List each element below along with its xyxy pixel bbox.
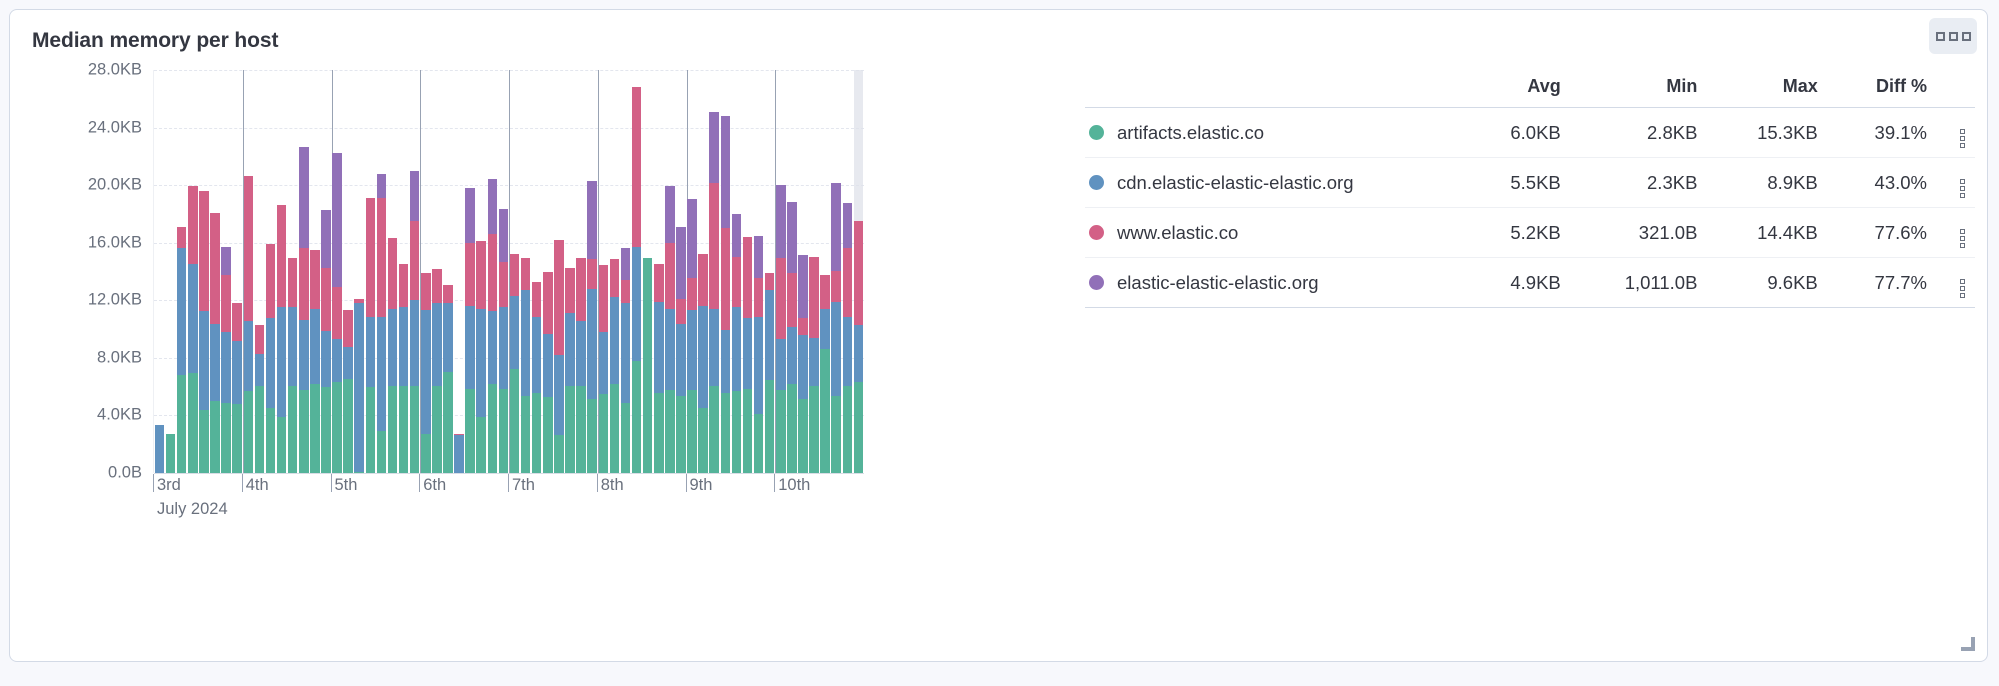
bar-segment[interactable] <box>543 397 553 473</box>
bar-stack[interactable] <box>787 202 797 473</box>
bar-segment[interactable] <box>820 349 830 473</box>
bar-segment[interactable] <box>199 311 209 409</box>
bar-segment[interactable] <box>177 375 187 473</box>
bar-segment[interactable] <box>698 408 708 473</box>
bar-segment[interactable] <box>510 369 520 473</box>
bar-stack[interactable] <box>820 275 830 473</box>
panel-context-menu-button[interactable] <box>1929 18 1977 54</box>
bar-stack[interactable] <box>543 272 553 473</box>
bar-segment[interactable] <box>232 404 242 473</box>
bar-segment[interactable] <box>721 330 731 393</box>
legend-cell-diff: 39.1% <box>1832 108 1941 158</box>
x-axis-tick-line <box>597 474 598 492</box>
bar-stack[interactable] <box>554 240 564 473</box>
bar-segment[interactable] <box>776 390 786 473</box>
bar-segment[interactable] <box>177 227 187 248</box>
bar-segment[interactable] <box>532 282 542 317</box>
legend-header-min[interactable]: Min <box>1575 72 1712 108</box>
bar-stack[interactable] <box>721 116 731 473</box>
bar-segment[interactable] <box>521 290 531 395</box>
bar-segment[interactable] <box>377 198 387 317</box>
bar-segment[interactable] <box>554 435 564 473</box>
bar-stack[interactable] <box>388 238 398 473</box>
legend-cell-min: 2.3KB <box>1575 158 1712 208</box>
bar-stack[interactable] <box>476 241 486 473</box>
bar-segment[interactable] <box>809 386 819 473</box>
bar-stack[interactable] <box>199 190 209 473</box>
bar-segment[interactable] <box>421 310 431 434</box>
bar-segment[interactable] <box>831 183 841 270</box>
bar-segment[interactable] <box>798 318 808 335</box>
bar-segment[interactable] <box>654 302 664 393</box>
bar-stack[interactable] <box>421 273 431 473</box>
bar-stack[interactable] <box>632 86 642 473</box>
bar-segment[interactable] <box>410 171 420 222</box>
bar-segment[interactable] <box>499 262 509 307</box>
bar-segment[interactable] <box>199 410 209 473</box>
bar-stack[interactable] <box>654 264 664 473</box>
bar-segment[interactable] <box>410 386 420 473</box>
bar-segment[interactable] <box>831 271 841 302</box>
bar-segment[interactable] <box>288 386 298 473</box>
bar-segment[interactable] <box>843 248 853 317</box>
bar-segment[interactable] <box>599 332 609 394</box>
bar-segment[interactable] <box>743 389 753 473</box>
bar-segment[interactable] <box>221 275 231 333</box>
bar-segment[interactable] <box>632 247 642 361</box>
bar-segment[interactable] <box>610 384 620 473</box>
bar-segment[interactable] <box>632 87 642 247</box>
bar-stack[interactable] <box>843 203 853 473</box>
bar-segment[interactable] <box>244 321 254 391</box>
bar-segment[interactable] <box>454 435 464 473</box>
bar-stack[interactable] <box>366 198 376 473</box>
bar-segment[interactable] <box>709 309 719 386</box>
legend-series-cell[interactable]: artifacts.elastic.co <box>1085 108 1468 158</box>
bar-stack[interactable] <box>831 183 841 473</box>
bar-stack[interactable] <box>698 254 708 473</box>
bar-segment[interactable] <box>244 391 254 473</box>
bar-segment[interactable] <box>244 176 254 321</box>
bar-stack[interactable] <box>399 264 409 473</box>
bar-stack[interactable] <box>432 269 442 473</box>
bar-stack[interactable] <box>576 258 586 473</box>
bar-segment[interactable] <box>188 264 198 374</box>
bar-segment[interactable] <box>843 203 853 248</box>
bar-stack[interactable] <box>332 153 342 473</box>
bar-segment[interactable] <box>820 309 830 350</box>
bar-stack[interactable] <box>599 265 609 473</box>
y-axis-tick-label: 8.0KB <box>97 348 142 367</box>
bar-segment[interactable] <box>443 285 453 303</box>
bar-segment[interactable] <box>332 287 342 339</box>
bar-segment[interactable] <box>687 278 697 310</box>
x-axis-tick-line <box>774 474 775 492</box>
bar-segment[interactable] <box>199 191 209 312</box>
bar-segment[interactable] <box>465 243 475 306</box>
bar-segment[interactable] <box>332 382 342 473</box>
bar-segment[interactable] <box>709 112 719 184</box>
bar-segment[interactable] <box>366 317 376 387</box>
bar-segment[interactable] <box>488 234 498 311</box>
bar-segment[interactable] <box>732 214 742 256</box>
legend-row-menu-button[interactable] <box>1941 208 1975 258</box>
bar-segment[interactable] <box>388 309 398 386</box>
bar-segment[interactable] <box>643 258 653 473</box>
bar-segment[interactable] <box>732 307 742 391</box>
bar-segment[interactable] <box>388 238 398 308</box>
bar-stack[interactable] <box>443 285 453 473</box>
bar-stack[interactable] <box>610 259 620 473</box>
bar-segment[interactable] <box>299 390 309 473</box>
bar-stack[interactable] <box>532 282 542 473</box>
bar-segment[interactable] <box>399 264 409 308</box>
bar-segment[interactable] <box>809 338 819 386</box>
legend-row-menu-button[interactable] <box>1941 108 1975 158</box>
bar-stack[interactable] <box>709 112 719 473</box>
bar-segment[interactable] <box>687 199 697 278</box>
bar-segment[interactable] <box>432 386 442 473</box>
bar-stack[interactable] <box>665 186 675 473</box>
bar-segment[interactable] <box>210 213 220 324</box>
bar-stack[interactable] <box>166 434 176 473</box>
bar-stack[interactable] <box>155 425 165 473</box>
bar-segment[interactable] <box>288 258 298 307</box>
bar-segment[interactable] <box>166 434 176 473</box>
bar-segment[interactable] <box>343 379 353 473</box>
legend-row-menu-button[interactable] <box>1941 158 1975 208</box>
bar-segment[interactable] <box>476 241 486 308</box>
bar-segment[interactable] <box>399 386 409 473</box>
bar-segment[interactable] <box>587 181 597 260</box>
plot-area[interactable] <box>153 70 864 473</box>
bar-segment[interactable] <box>421 273 431 310</box>
bar-segment[interactable] <box>754 236 764 278</box>
bar-stack[interactable] <box>676 227 686 473</box>
bar-segment[interactable] <box>321 387 331 473</box>
bar-stack[interactable] <box>354 299 364 473</box>
bar-segment[interactable] <box>432 303 442 386</box>
bar-segment[interactable] <box>743 318 753 388</box>
bar-segment[interactable] <box>809 257 819 339</box>
table-row[interactable]: cdn.elastic-elastic-elastic.org5.5KB2.3K… <box>1085 158 1975 208</box>
bar-stack[interactable] <box>343 310 353 473</box>
bar-stack[interactable] <box>255 325 265 473</box>
bar-segment[interactable] <box>410 221 420 300</box>
bar-segment[interactable] <box>188 186 198 263</box>
bar-stack[interactable] <box>732 214 742 473</box>
bar-segment[interactable] <box>654 264 664 302</box>
bar-stack[interactable] <box>321 210 331 473</box>
bar-segment[interactable] <box>721 228 731 329</box>
bar-segment[interactable] <box>787 273 797 326</box>
panel-resize-handle[interactable] <box>1961 637 1975 651</box>
bar-stack[interactable] <box>210 213 220 473</box>
bar-segment[interactable] <box>709 183 719 308</box>
bar-segment[interactable] <box>732 391 742 473</box>
bar-segment[interactable] <box>443 372 453 473</box>
bar-segment[interactable] <box>221 403 231 473</box>
bar-segment[interactable] <box>321 210 331 268</box>
bar-segment[interactable] <box>232 303 242 341</box>
bar-segment[interactable] <box>576 321 586 386</box>
bar-segment[interactable] <box>476 309 486 417</box>
bar-segment[interactable] <box>831 302 841 396</box>
bar-stack[interactable] <box>565 268 575 473</box>
bar-segment[interactable] <box>499 389 509 473</box>
bar-stack[interactable] <box>221 247 231 473</box>
bar-stack[interactable] <box>765 273 775 473</box>
bar-segment[interactable] <box>332 153 342 288</box>
bar-segment[interactable] <box>765 273 775 290</box>
bar-segment[interactable] <box>377 317 387 431</box>
bar-segment[interactable] <box>255 386 265 473</box>
bar-stack[interactable] <box>310 250 320 473</box>
bar-segment[interactable] <box>343 310 353 347</box>
bar-segment[interactable] <box>599 265 609 332</box>
bar-stack[interactable] <box>687 199 697 473</box>
bar-segment[interactable] <box>854 325 864 381</box>
bar-segment[interactable] <box>854 382 864 473</box>
bar-segment[interactable] <box>510 296 520 369</box>
bar-stack[interactable] <box>488 179 498 473</box>
bar-segment[interactable] <box>432 269 442 303</box>
resize-corner-icon-horizontal <box>1961 647 1975 651</box>
bar-stack[interactable] <box>754 235 764 473</box>
legend-series-cell[interactable]: elastic-elastic-elastic.org <box>1085 258 1468 308</box>
bar-segment[interactable] <box>210 401 220 473</box>
bar-segment[interactable] <box>277 417 287 473</box>
bar-segment[interactable] <box>787 327 797 385</box>
bar-segment[interactable] <box>765 290 775 380</box>
bar-segment[interactable] <box>798 399 808 473</box>
bar-segment[interactable] <box>843 386 853 473</box>
bar-segment[interactable] <box>665 243 675 309</box>
bar-segment[interactable] <box>787 384 797 473</box>
bar-segment[interactable] <box>377 174 387 198</box>
legend-series-cell[interactable]: cdn.elastic-elastic-elastic.org <box>1085 158 1468 208</box>
bar-segment[interactable] <box>610 259 620 297</box>
bar-segment[interactable] <box>321 268 331 331</box>
bar-segment[interactable] <box>421 434 431 473</box>
bar-segment[interactable] <box>377 431 387 473</box>
bar-stack[interactable] <box>244 176 254 473</box>
bar-segment[interactable] <box>232 341 242 404</box>
bar-segment[interactable] <box>632 361 642 473</box>
bar-segment[interactable] <box>776 258 786 340</box>
bar-stack[interactable] <box>299 147 309 473</box>
bar-segment[interactable] <box>599 394 609 473</box>
bar-stack[interactable] <box>587 181 597 473</box>
bar-segment[interactable] <box>698 254 708 306</box>
bar-segment[interactable] <box>565 313 575 386</box>
bar-segment[interactable] <box>665 390 675 473</box>
bar-segment[interactable] <box>521 258 531 290</box>
bar-segment[interactable] <box>521 396 531 473</box>
bar-segment[interactable] <box>277 205 287 308</box>
bar-segment[interactable] <box>465 389 475 473</box>
bar-segment[interactable] <box>820 275 830 309</box>
bar-segment[interactable] <box>621 248 631 280</box>
bar-segment[interactable] <box>754 278 764 317</box>
bar-segment[interactable] <box>554 240 564 355</box>
bar-segment[interactable] <box>532 393 542 473</box>
bar-segment[interactable] <box>299 248 309 320</box>
bar-stack[interactable] <box>465 188 475 473</box>
bar-segment[interactable] <box>299 147 309 248</box>
legend-table: Avg Min Max Diff % artifacts.elastic.co6… <box>1085 72 1975 308</box>
bar-segment[interactable] <box>266 408 276 473</box>
bar-segment[interactable] <box>366 387 376 473</box>
bar-segment[interactable] <box>721 116 731 228</box>
bar-stack[interactable] <box>410 171 420 473</box>
bar-segment[interactable] <box>310 309 320 385</box>
bar-segment[interactable] <box>321 331 331 387</box>
bar-segment[interactable] <box>709 386 719 473</box>
x-axis-tick-label: 6th <box>423 476 446 495</box>
bar-segment[interactable] <box>665 309 675 391</box>
bar-segment[interactable] <box>266 318 276 408</box>
bar-stack[interactable] <box>377 174 387 473</box>
bar-segment[interactable] <box>465 188 475 243</box>
bar-segment[interactable] <box>843 317 853 386</box>
bar-segment[interactable] <box>854 221 864 325</box>
bar-segment[interactable] <box>676 299 686 324</box>
bar-segment[interactable] <box>554 355 564 435</box>
bar-segment[interactable] <box>687 310 697 390</box>
bar-stack[interactable] <box>177 227 187 473</box>
bar-segment[interactable] <box>388 386 398 473</box>
legend-header-diff[interactable]: Diff % <box>1832 72 1941 108</box>
bar-segment[interactable] <box>621 403 631 473</box>
bar-stack[interactable] <box>798 255 808 473</box>
bar-segment[interactable] <box>288 307 298 386</box>
bar-stack[interactable] <box>809 257 819 473</box>
bar-stack[interactable] <box>188 186 198 473</box>
bar-segment[interactable] <box>621 280 631 302</box>
bar-series-container[interactable] <box>154 70 864 473</box>
bar-segment[interactable] <box>255 325 265 353</box>
bar-stack[interactable] <box>854 221 864 473</box>
legend-series-cell[interactable]: www.elastic.co <box>1085 208 1468 258</box>
bar-segment[interactable] <box>221 247 231 275</box>
legend-header-max[interactable]: Max <box>1711 72 1831 108</box>
bar-stack[interactable] <box>288 258 298 473</box>
bar-stack[interactable] <box>454 434 464 473</box>
bar-segment[interactable] <box>721 393 731 473</box>
bar-stack[interactable] <box>266 244 276 473</box>
bar-segment[interactable] <box>366 198 376 317</box>
bar-segment[interactable] <box>488 384 498 473</box>
bar-segment[interactable] <box>798 255 808 318</box>
bar-segment[interactable] <box>499 209 509 262</box>
bar-stack[interactable] <box>776 185 786 473</box>
bar-segment[interactable] <box>476 417 486 473</box>
bar-stack[interactable] <box>510 254 520 473</box>
table-row[interactable]: elastic-elastic-elastic.org4.9KB1,011.0B… <box>1085 258 1975 308</box>
bar-segment[interactable] <box>543 272 553 334</box>
y-axis-tick-label: 20.0KB <box>88 176 142 195</box>
legend-row-menu-button[interactable] <box>1941 258 1975 308</box>
bar-segment[interactable] <box>354 303 364 472</box>
bar-segment[interactable] <box>488 179 498 234</box>
bar-segment[interactable] <box>676 227 686 299</box>
table-row[interactable]: www.elastic.co5.2KB321.0B14.4KB77.6% <box>1085 208 1975 258</box>
bar-segment[interactable] <box>221 332 231 402</box>
bar-segment[interactable] <box>565 386 575 473</box>
bar-segment[interactable] <box>310 384 320 473</box>
bar-segment[interactable] <box>798 335 808 398</box>
bar-segment[interactable] <box>676 396 686 473</box>
bar-segment[interactable] <box>343 347 353 379</box>
bar-segment[interactable] <box>399 307 409 386</box>
bar-stack[interactable] <box>277 205 287 473</box>
bar-segment[interactable] <box>787 202 797 274</box>
bar-segment[interactable] <box>310 250 320 309</box>
bar-segment[interactable] <box>765 380 775 473</box>
bar-segment[interactable] <box>177 248 187 374</box>
bar-segment[interactable] <box>743 237 753 319</box>
bar-segment[interactable] <box>621 303 631 403</box>
bar-segment[interactable] <box>754 317 764 414</box>
bar-segment[interactable] <box>698 306 708 409</box>
bar-segment[interactable] <box>488 311 498 384</box>
bar-segment[interactable] <box>354 472 364 473</box>
bar-segment[interactable] <box>576 386 586 473</box>
bar-segment[interactable] <box>543 334 553 397</box>
bar-segment[interactable] <box>443 303 453 372</box>
table-row[interactable]: artifacts.elastic.co6.0KB2.8KB15.3KB39.1… <box>1085 108 1975 158</box>
bar-segment[interactable] <box>587 289 597 399</box>
bar-segment[interactable] <box>831 396 841 473</box>
bar-segment[interactable] <box>776 185 786 258</box>
bar-segment[interactable] <box>665 186 675 242</box>
bar-segment[interactable] <box>687 390 697 473</box>
bar-segment[interactable] <box>465 306 475 389</box>
bar-segment[interactable] <box>210 324 220 401</box>
bar-segment[interactable] <box>332 339 342 381</box>
bar-segment[interactable] <box>565 268 575 313</box>
bar-segment[interactable] <box>676 324 686 396</box>
bar-stack[interactable] <box>621 248 631 473</box>
bar-segment[interactable] <box>587 259 597 289</box>
bar-segment[interactable] <box>277 307 287 417</box>
bar-segment[interactable] <box>510 254 520 296</box>
legend-header-avg[interactable]: Avg <box>1468 72 1574 108</box>
bar-stack[interactable] <box>643 258 653 473</box>
bar-stack[interactable] <box>521 258 531 473</box>
bar-stack[interactable] <box>232 303 242 473</box>
bar-segment[interactable] <box>754 414 764 473</box>
bar-segment[interactable] <box>299 320 309 390</box>
bar-segment[interactable] <box>188 373 198 473</box>
bar-segment[interactable] <box>654 393 664 473</box>
bar-segment[interactable] <box>155 425 165 473</box>
bar-segment[interactable] <box>610 297 620 384</box>
bar-segment[interactable] <box>266 244 276 318</box>
x-axis-tick-line <box>242 474 243 492</box>
bar-stack[interactable] <box>743 237 753 473</box>
bar-segment[interactable] <box>776 339 786 390</box>
bar-segment[interactable] <box>532 317 542 393</box>
bar-segment[interactable] <box>576 258 586 321</box>
bar-segment[interactable] <box>587 399 597 473</box>
bar-segment[interactable] <box>255 354 265 386</box>
bar-segment[interactable] <box>732 257 742 308</box>
bar-segment[interactable] <box>410 300 420 386</box>
bar-stack[interactable] <box>499 209 509 473</box>
bar-segment[interactable] <box>499 307 509 389</box>
